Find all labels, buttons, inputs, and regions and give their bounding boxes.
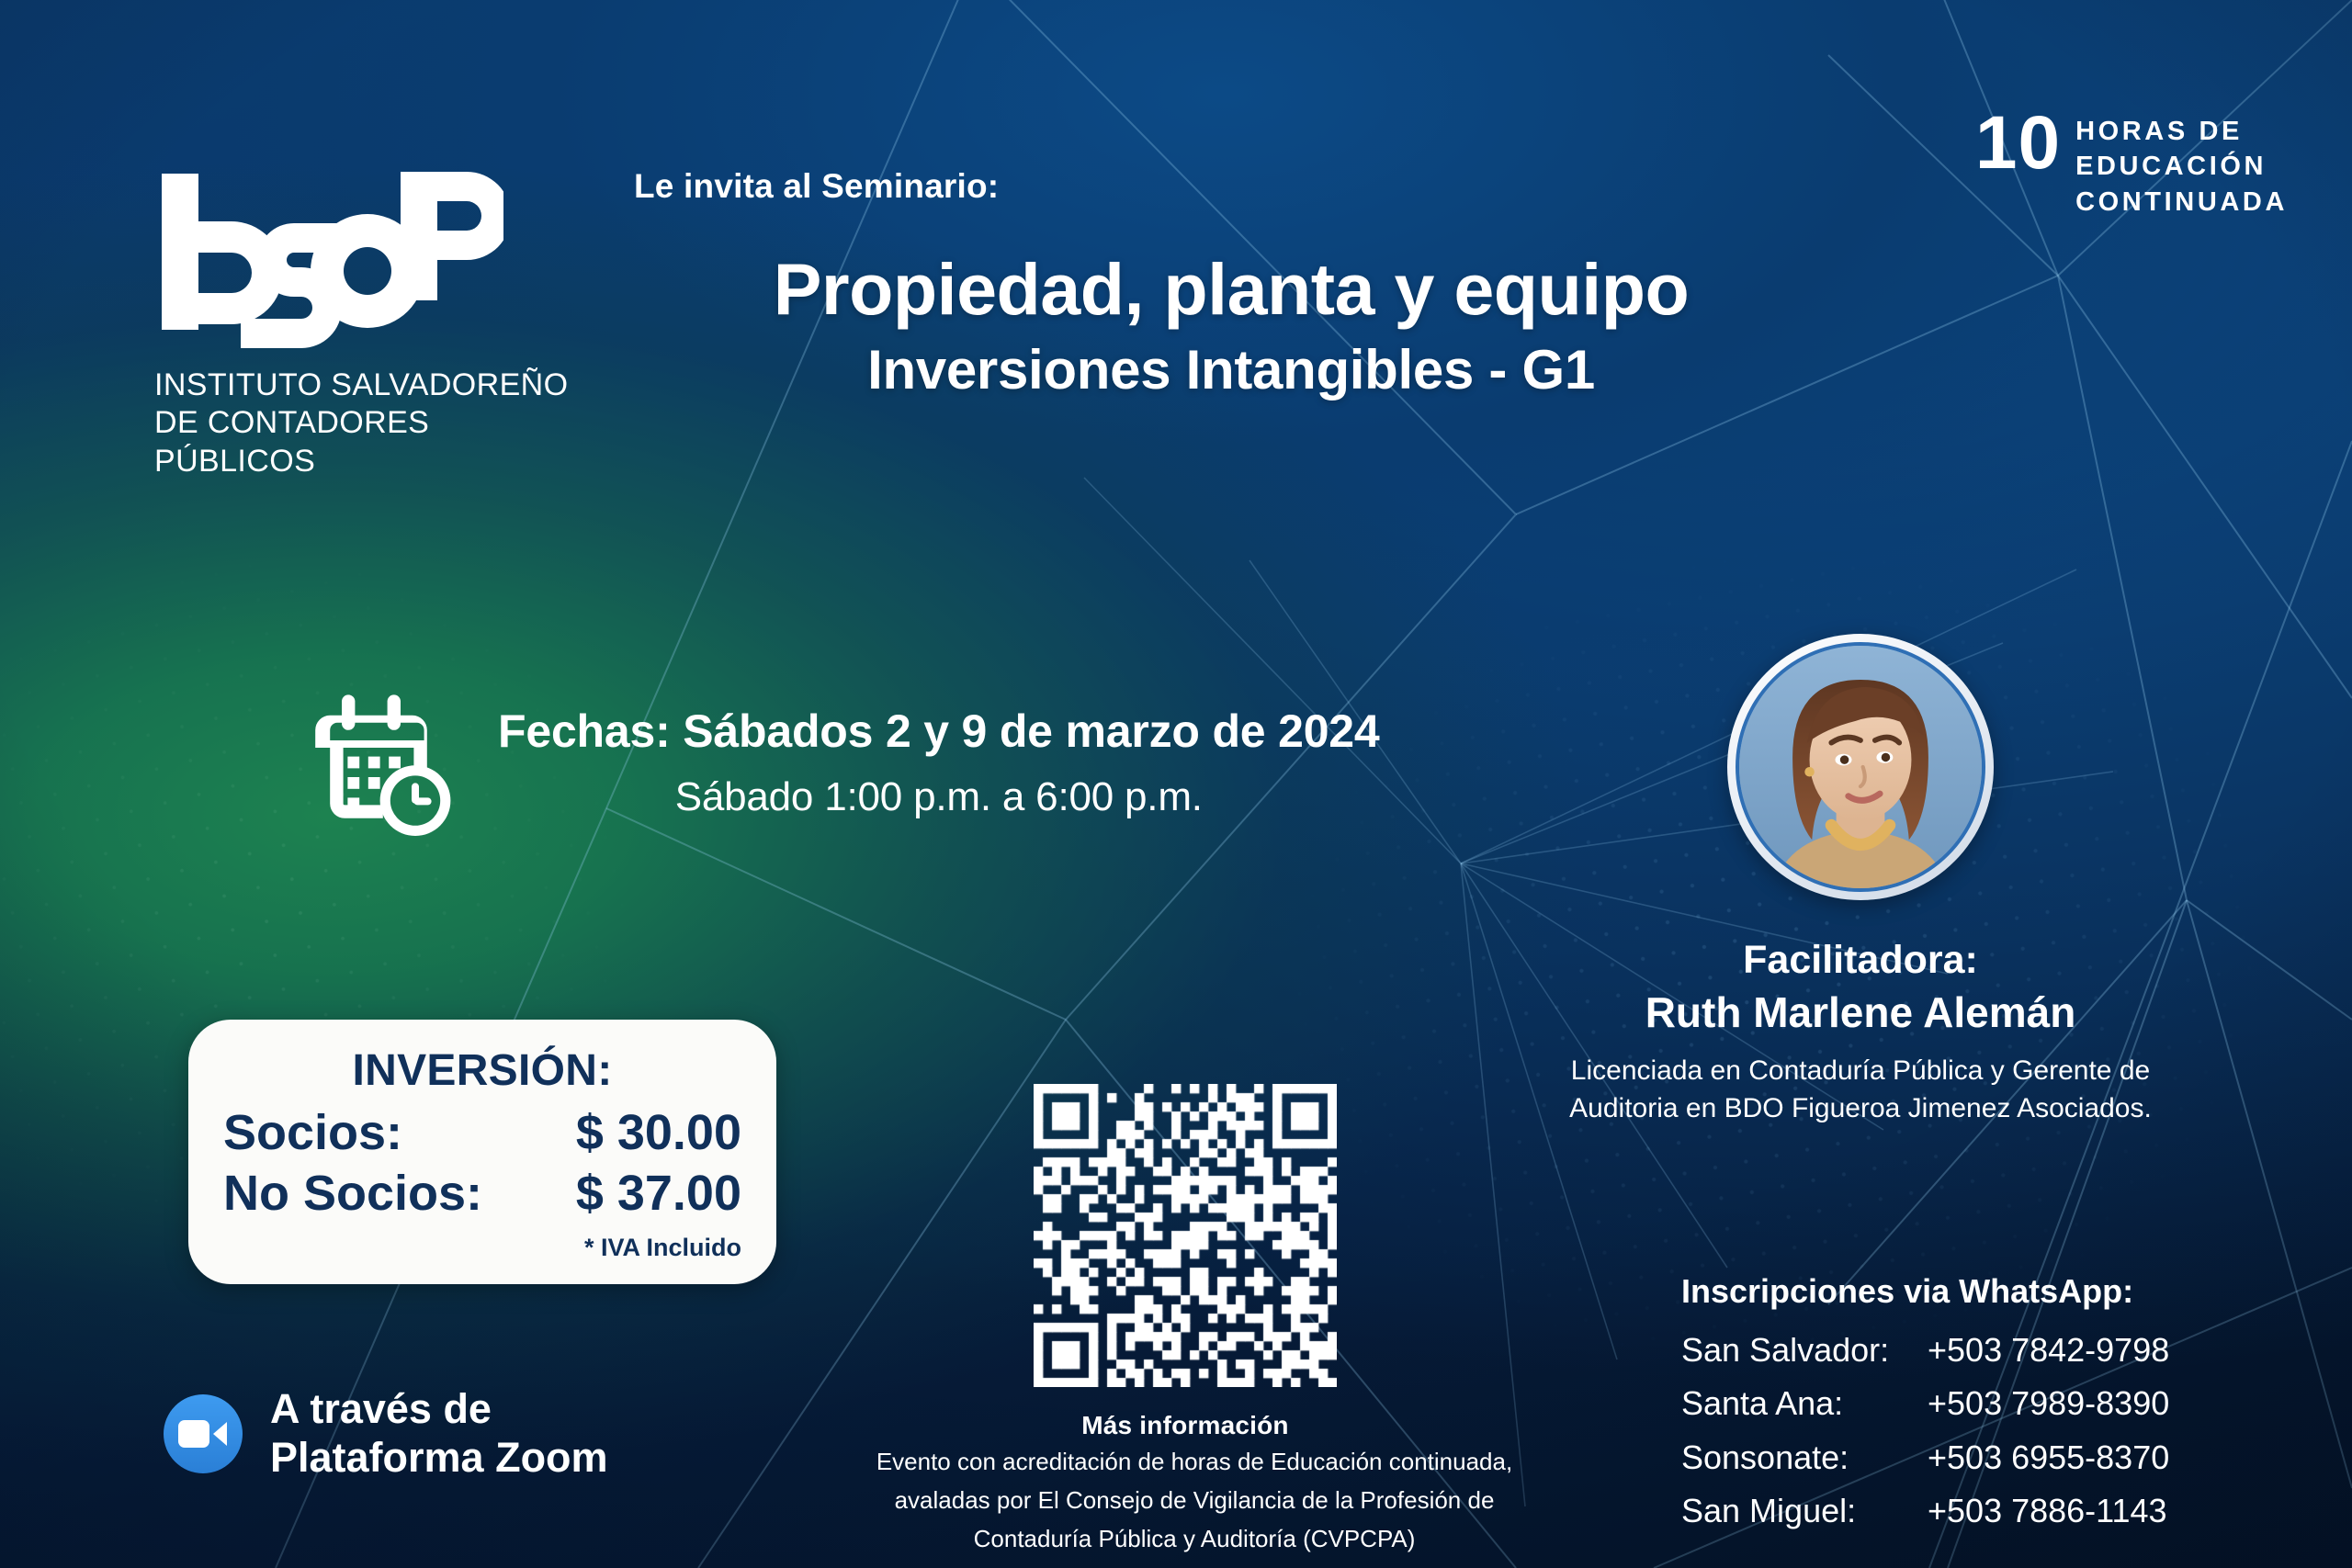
contact-row[interactable]: Sonsonate: +503 6955-8370 bbox=[1681, 1431, 2242, 1484]
facilitator-bio: Licenciada en Contaduría Pública y Geren… bbox=[1479, 1052, 2242, 1128]
price-amount-nonmembers: $ 37.00 bbox=[512, 1164, 741, 1224]
invite-line: Le invita al Seminario: bbox=[634, 167, 999, 206]
registration-block: Inscripciones via WhatsApp: San Salvador… bbox=[1681, 1272, 2242, 1538]
price-row-nonmembers: No Socios: $ 37.00 bbox=[223, 1164, 741, 1224]
contact-city: San Miguel: bbox=[1681, 1484, 1928, 1538]
dates-block: Fechas: Sábados 2 y 9 de marzo de 2024 S… bbox=[312, 689, 1380, 836]
facilitator-role: Facilitadora: bbox=[1479, 937, 2242, 984]
contact-row[interactable]: Santa Ana: +503 7989-8390 bbox=[1681, 1377, 2242, 1430]
investment-title: INVERSIÓN: bbox=[223, 1045, 741, 1096]
price-amount-members: $ 30.00 bbox=[512, 1103, 741, 1164]
qr-block: Más información bbox=[1034, 1084, 1337, 1440]
price-label-members: Socios: bbox=[223, 1103, 402, 1164]
hours-label: HORAS DE EDUCACIÓN CONTINUADA bbox=[2075, 108, 2288, 220]
contact-number[interactable]: +503 6955-8370 bbox=[1928, 1431, 2169, 1484]
contact-city: San Salvador: bbox=[1681, 1324, 1928, 1377]
institute-logo: INSTITUTO SALVADOREÑO DE CONTADORES PÚBL… bbox=[154, 170, 595, 480]
seminar-title-block: Propiedad, planta y equipo Inversiones I… bbox=[634, 250, 1828, 401]
dates-schedule: Sábado 1:00 p.m. a 6:00 p.m. bbox=[498, 772, 1380, 822]
platform-block: A través de Plataforma Zoom bbox=[164, 1385, 608, 1482]
zoom-video-icon bbox=[164, 1394, 243, 1473]
price-tax-note: * IVA Incluido bbox=[223, 1234, 741, 1262]
price-label-nonmembers: No Socios: bbox=[223, 1164, 482, 1224]
continuing-education-hours-badge: 10 HORAS DE EDUCACIÓN CONTINUADA bbox=[1975, 108, 2288, 220]
accreditation-note: Evento con acreditación de horas de Educ… bbox=[831, 1442, 1557, 1558]
price-row-members: Socios: $ 30.00 bbox=[223, 1103, 741, 1164]
contact-row[interactable]: San Miguel: +503 7886-1143 bbox=[1681, 1484, 2242, 1538]
facilitator-block: Facilitadora: Ruth Marlene Alemán Licenc… bbox=[1479, 937, 2242, 1128]
facilitator-portrait bbox=[1739, 646, 1982, 888]
platform-label: A través de Plataforma Zoom bbox=[270, 1385, 608, 1482]
contact-number[interactable]: +503 7886-1143 bbox=[1928, 1484, 2167, 1538]
facilitator-name: Ruth Marlene Alemán bbox=[1479, 987, 2242, 1037]
avatar-ring bbox=[1736, 642, 1985, 892]
seminar-subtitle: Inversiones Intangibles - G1 bbox=[634, 339, 1828, 400]
qr-code[interactable] bbox=[1034, 1084, 1337, 1387]
contact-number[interactable]: +503 7842-9798 bbox=[1928, 1324, 2169, 1377]
iscp-monogram-icon bbox=[154, 170, 503, 354]
seminar-flyer: INSTITUTO SALVADOREÑO DE CONTADORES PÚBL… bbox=[0, 0, 2352, 1568]
contact-number[interactable]: +503 7989-8390 bbox=[1928, 1377, 2169, 1430]
dates-primary: Fechas: Sábados 2 y 9 de marzo de 2024 bbox=[498, 704, 1380, 759]
avatar bbox=[1727, 634, 1994, 900]
video-camera-glyph bbox=[178, 1418, 228, 1450]
qr-caption: Más información bbox=[1034, 1411, 1337, 1440]
contact-row[interactable]: San Salvador: +503 7842-9798 bbox=[1681, 1324, 2242, 1377]
contact-city: Santa Ana: bbox=[1681, 1377, 1928, 1430]
investment-card: INVERSIÓN: Socios: $ 30.00 No Socios: $ … bbox=[188, 1020, 776, 1284]
calendar-clock-icon bbox=[312, 689, 459, 836]
hours-number: 10 bbox=[1975, 108, 2061, 177]
contact-city: Sonsonate: bbox=[1681, 1431, 1928, 1484]
institute-name: INSTITUTO SALVADOREÑO DE CONTADORES PÚBL… bbox=[154, 367, 595, 480]
dates-text: Fechas: Sábados 2 y 9 de marzo de 2024 S… bbox=[498, 704, 1380, 822]
registration-title: Inscripciones via WhatsApp: bbox=[1681, 1272, 2242, 1311]
seminar-title: Propiedad, planta y equipo bbox=[634, 250, 1828, 328]
